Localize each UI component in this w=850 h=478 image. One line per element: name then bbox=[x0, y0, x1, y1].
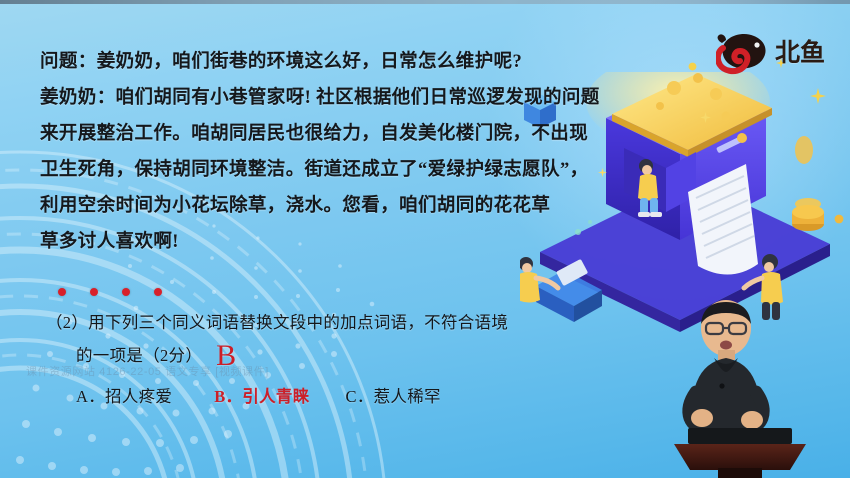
sparkle-icon bbox=[834, 214, 844, 224]
question-stem-line-2: 的一项是（2分） bbox=[76, 346, 202, 365]
fish-logo-icon bbox=[716, 27, 772, 79]
answer-mark: B bbox=[216, 339, 236, 372]
video-slide-frame: 北鱼 问题：姜奶奶，咱们街巷的环境这么好，日常怎么维护呢? 姜奶奶：咱们胡同有小… bbox=[0, 0, 850, 478]
question-block: （2）用下列三个同义词语替换文段中的加点词语，不符合语境 的一项是（2分）B bbox=[46, 306, 666, 372]
top-edge-strip bbox=[0, 0, 850, 4]
sparkle-icon bbox=[810, 88, 826, 104]
passage-line: 来开展整治工作。咱胡同居民也很给力，自发美化楼门院，不出现 bbox=[40, 116, 700, 152]
presenter-video-overlay bbox=[640, 292, 840, 478]
question-stem-line-1: （2）用下列三个同义词语替换文段中的加点词语，不符合语境 bbox=[46, 306, 666, 339]
emphasis-dot bbox=[58, 288, 66, 296]
choice-a[interactable]: A．招人疼爱 bbox=[76, 383, 172, 407]
brand-logo-text: 北鱼 bbox=[775, 41, 825, 66]
emphasis-dots bbox=[58, 288, 184, 300]
emphasis-dot bbox=[122, 288, 130, 296]
passage-text: 问题：姜奶奶，咱们街巷的环境这么好，日常怎么维护呢? 姜奶奶：咱们胡同有小巷管家… bbox=[40, 44, 700, 260]
passage-line: 利用空余时间为小花坛除草，浇水。您看，咱们胡同的花花草 bbox=[40, 188, 700, 224]
question-stem-line-2-row: 的一项是（2分）B bbox=[46, 339, 666, 372]
passage-line: 草多讨人喜欢啊! bbox=[40, 224, 700, 260]
emphasis-dot bbox=[90, 288, 98, 296]
brand-logo[interactable]: 北鱼 bbox=[716, 24, 828, 82]
sparkle-icon bbox=[700, 112, 711, 123]
passage-line: 卫生死角，保持胡同环境整洁。街道还成立了“爱绿护绿志愿队”， bbox=[40, 152, 700, 188]
emphasis-dot bbox=[154, 288, 162, 296]
answer-choices: A．招人疼爱 B．引人青睐 C．惹人稀罕 bbox=[76, 383, 441, 407]
passage-line: 姜奶奶：咱们胡同有小巷管家呀! 社区根据他们日常巡逻发现的问题 bbox=[40, 80, 700, 116]
choice-b[interactable]: B．引人青睐 bbox=[214, 383, 309, 407]
choice-c[interactable]: C．惹人稀罕 bbox=[346, 383, 441, 407]
passage-line: 问题：姜奶奶，咱们街巷的环境这么好，日常怎么维护呢? bbox=[40, 44, 700, 80]
